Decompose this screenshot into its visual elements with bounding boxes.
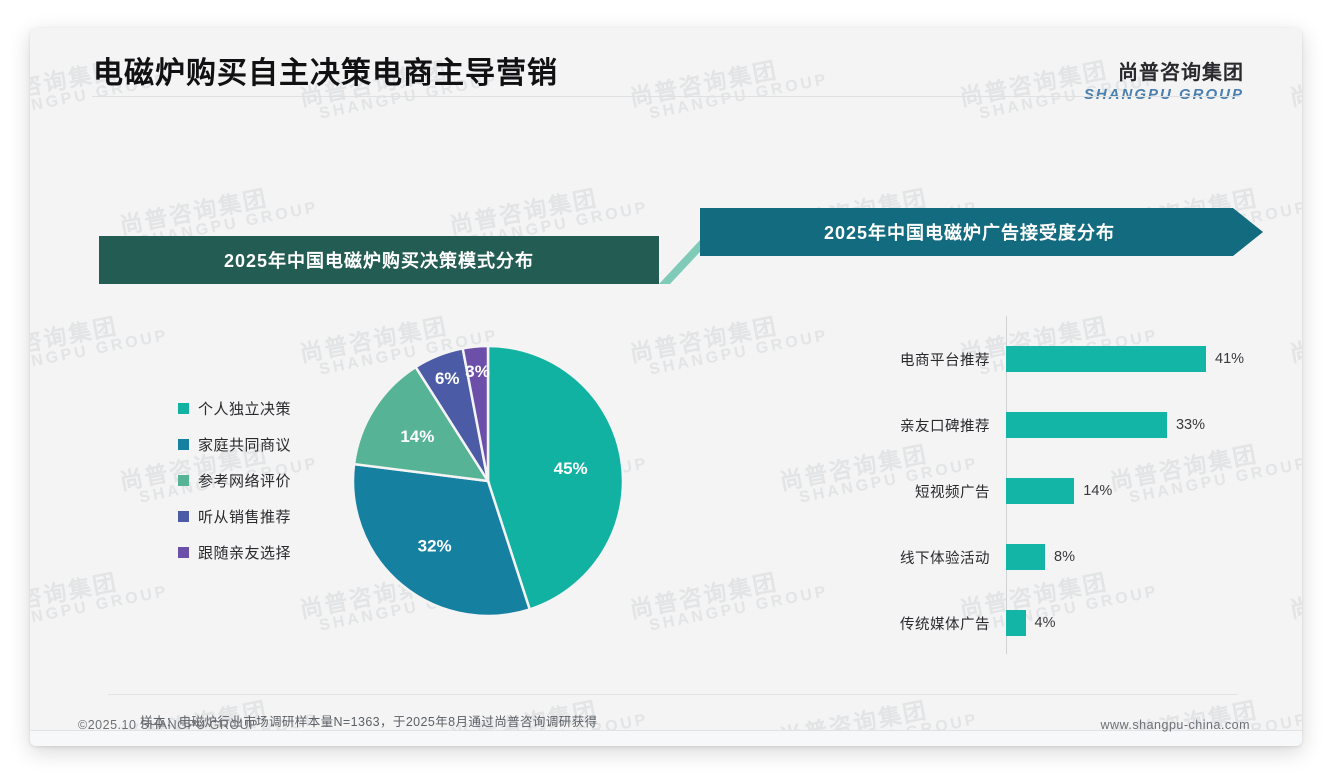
pie-legend-label: 听从销售推荐: [198, 506, 291, 527]
legend-swatch-icon: [178, 475, 189, 486]
bar-chart-panel: 电商平台推荐41%亲友口碑推荐33%短视频广告14%线下体验活动8%传统媒体广告…: [820, 316, 1260, 661]
bar-rect[interactable]: [1006, 610, 1026, 636]
legend-swatch-icon: [178, 403, 189, 414]
legend-swatch-icon: [178, 439, 189, 450]
pie-slice-label: 6%: [435, 369, 460, 388]
website-link[interactable]: www.shangpu-china.com: [1101, 718, 1250, 732]
bar-rect[interactable]: [1006, 478, 1074, 504]
note-divider: [108, 694, 1238, 695]
slide-header: 电磁炉购买自主决策电商主导营销 尚普咨询集团 SHANGPU GROUP: [30, 28, 1302, 98]
bar-rect[interactable]: [1006, 412, 1167, 438]
slide-card: 尚普咨询集团SHANGPU GROUP尚普咨询集团SHANGPU GROUP尚普…: [30, 28, 1302, 746]
copyright-text: ©2025.10 SHANGPU GROUP: [78, 718, 258, 732]
banner-bar-title-label: 2025年中国电磁炉广告接受度分布: [824, 219, 1115, 245]
pie-legend-label: 参考网络评价: [198, 470, 291, 491]
banner-bar-title: 2025年中国电磁炉广告接受度分布: [700, 208, 1263, 256]
pie-legend-item[interactable]: 听从销售推荐: [178, 506, 291, 527]
pie-legend-item[interactable]: 家庭共同商议: [178, 434, 291, 455]
bar-category-label: 短视频广告: [820, 481, 998, 502]
bar-rect[interactable]: [1006, 346, 1206, 372]
bar-rect[interactable]: [1006, 544, 1045, 570]
bar-value-label: 33%: [1176, 417, 1205, 433]
pie-chart: 45%32%14%6%3%: [338, 336, 658, 636]
pie-slice-label: 32%: [418, 536, 452, 555]
pie-legend: 个人独立决策家庭共同商议参考网络评价听从销售推荐跟随亲友选择: [178, 398, 291, 578]
pie-slice-label: 3%: [465, 362, 490, 381]
pie-legend-label: 个人独立决策: [198, 398, 291, 419]
bar-value-label: 4%: [1035, 615, 1056, 631]
bar-value-label: 14%: [1083, 483, 1112, 499]
bar-chart-row[interactable]: 短视频广告14%: [820, 478, 1112, 504]
pie-slice-label: 14%: [400, 427, 434, 446]
slide-footer: [30, 731, 1302, 746]
pie-legend-label: 家庭共同商议: [198, 434, 291, 455]
page-title: 电磁炉购买自主决策电商主导营销: [93, 48, 558, 92]
bar-chart-row[interactable]: 亲友口碑推荐33%: [820, 412, 1205, 438]
bar-chart-row[interactable]: 传统媒体广告4%: [820, 610, 1055, 636]
bar-category-label: 传统媒体广告: [820, 613, 998, 634]
pie-legend-item[interactable]: 参考网络评价: [178, 470, 291, 491]
pie-legend-item[interactable]: 个人独立决策: [178, 398, 291, 419]
watermark-text: 尚普咨询集团SHANGPU GROUP: [1288, 305, 1302, 382]
logo-text-en: SHANGPU GROUP: [1084, 86, 1244, 103]
pie-legend-label: 跟随亲友选择: [198, 542, 291, 563]
bar-value-label: 8%: [1054, 549, 1075, 565]
legend-swatch-icon: [178, 547, 189, 558]
pie-chart-panel: 个人独立决策家庭共同商议参考网络评价听从销售推荐跟随亲友选择 45%32%14%…: [100, 328, 680, 658]
bar-category-label: 亲友口碑推荐: [820, 415, 998, 436]
pie-legend-item[interactable]: 跟随亲友选择: [178, 542, 291, 563]
banner-pie-title-label: 2025年中国电磁炉购买决策模式分布: [224, 247, 534, 273]
header-divider: [92, 96, 1240, 97]
bar-value-label: 41%: [1215, 351, 1244, 367]
bar-category-label: 线下体验活动: [820, 547, 998, 568]
banner-pie-title: 2025年中国电磁炉购买决策模式分布: [99, 236, 659, 284]
legend-swatch-icon: [178, 511, 189, 522]
bar-category-label: 电商平台推荐: [820, 349, 998, 370]
bar-chart-row[interactable]: 线下体验活动8%: [820, 544, 1075, 570]
pie-slice-label: 45%: [554, 459, 588, 478]
logo-text-cn: 尚普咨询集团: [1084, 56, 1244, 85]
watermark-text: 尚普咨询集团SHANGPU GROUP: [1288, 561, 1302, 638]
bar-chart-row[interactable]: 电商平台推荐41%: [820, 346, 1244, 372]
